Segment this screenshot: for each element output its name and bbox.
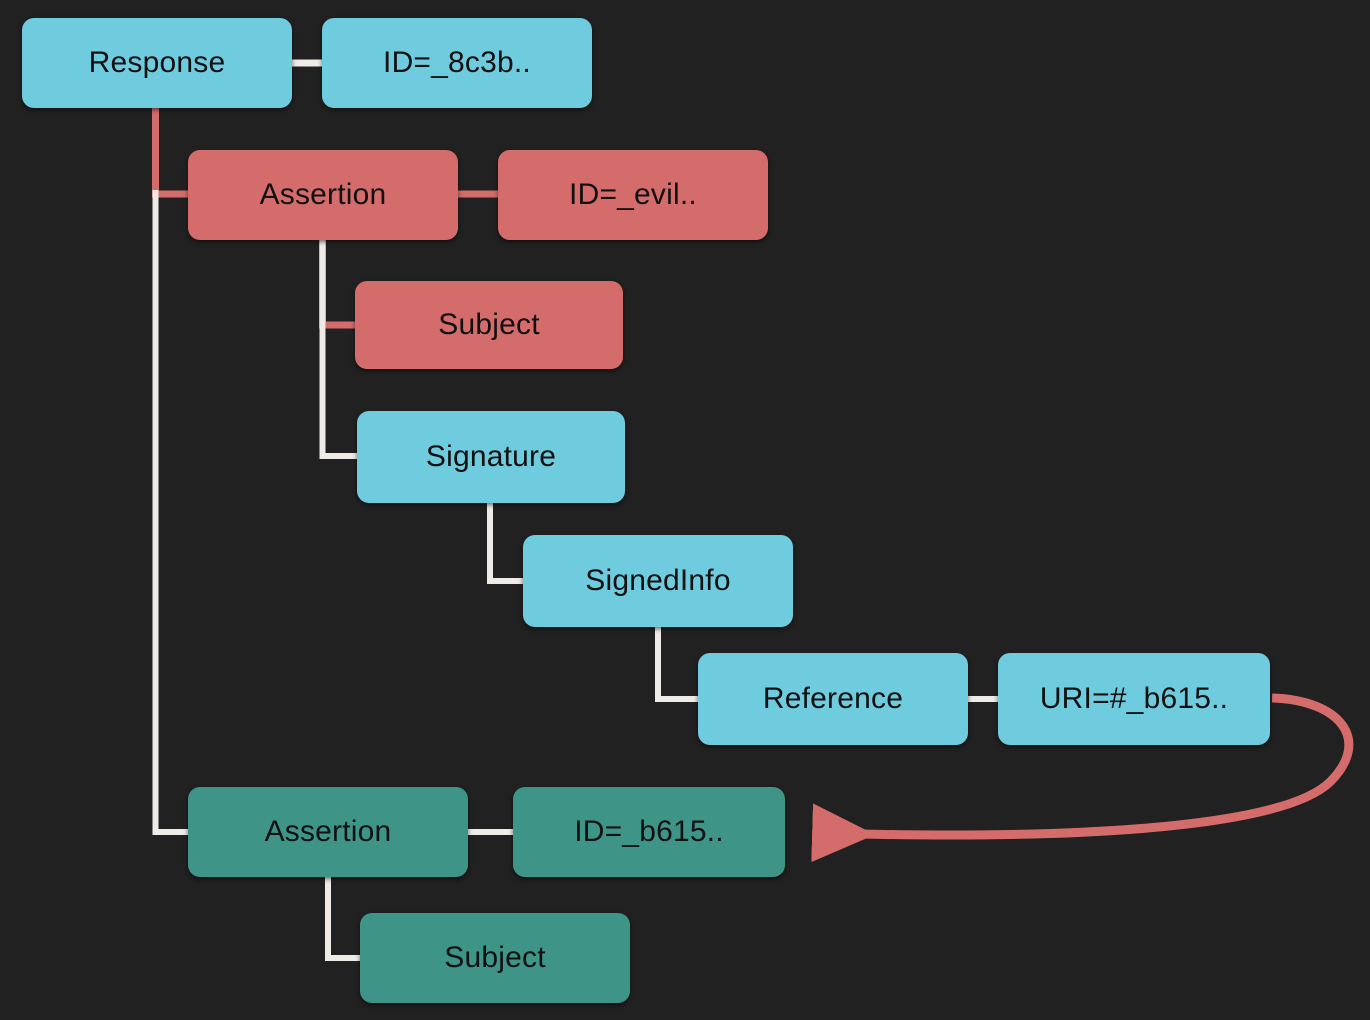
node-response-id[interactable]: ID=_8c3b.. (322, 18, 592, 108)
node-label: Signature (426, 440, 556, 474)
edge-signature-to-signedinfo (490, 503, 523, 581)
node-label: Subject (444, 941, 545, 975)
node-signature[interactable]: Signature (357, 411, 625, 503)
node-label: ID=_8c3b.. (383, 46, 531, 80)
node-response[interactable]: Response (22, 18, 292, 108)
node-label: Reference (763, 682, 903, 716)
node-label: Assertion (265, 815, 392, 849)
node-uri[interactable]: URI=#_b615.. (998, 653, 1270, 745)
node-evil-id[interactable]: ID=_evil.. (498, 150, 768, 240)
node-good-id[interactable]: ID=_b615.. (513, 787, 785, 877)
edge-assertion-to-signature (323, 240, 358, 456)
node-label: ID=_evil.. (569, 178, 697, 212)
node-label: URI=#_b615.. (1040, 682, 1228, 716)
edge-assertion-to-subject (323, 240, 356, 325)
edge-goodassertion-to-subject (328, 877, 360, 958)
node-label: ID=_b615.. (574, 815, 724, 849)
node-label: SignedInfo (585, 564, 730, 598)
edge-signedinfo-to-reference (658, 627, 698, 699)
node-assertion-evil[interactable]: Assertion (188, 150, 458, 240)
edge-response-to-goodassertion (156, 190, 189, 832)
node-signedinfo[interactable]: SignedInfo (523, 535, 793, 627)
diagram-canvas: Response ID=_8c3b.. Assertion ID=_evil..… (0, 0, 1370, 1020)
node-label: Assertion (260, 178, 387, 212)
node-label: Response (89, 46, 226, 80)
node-label: Subject (438, 308, 539, 342)
node-assertion-good[interactable]: Assertion (188, 787, 468, 877)
node-subject-good[interactable]: Subject (360, 913, 630, 1003)
edge-response-to-assertion (156, 108, 189, 194)
node-reference[interactable]: Reference (698, 653, 968, 745)
node-subject-evil[interactable]: Subject (355, 281, 623, 369)
